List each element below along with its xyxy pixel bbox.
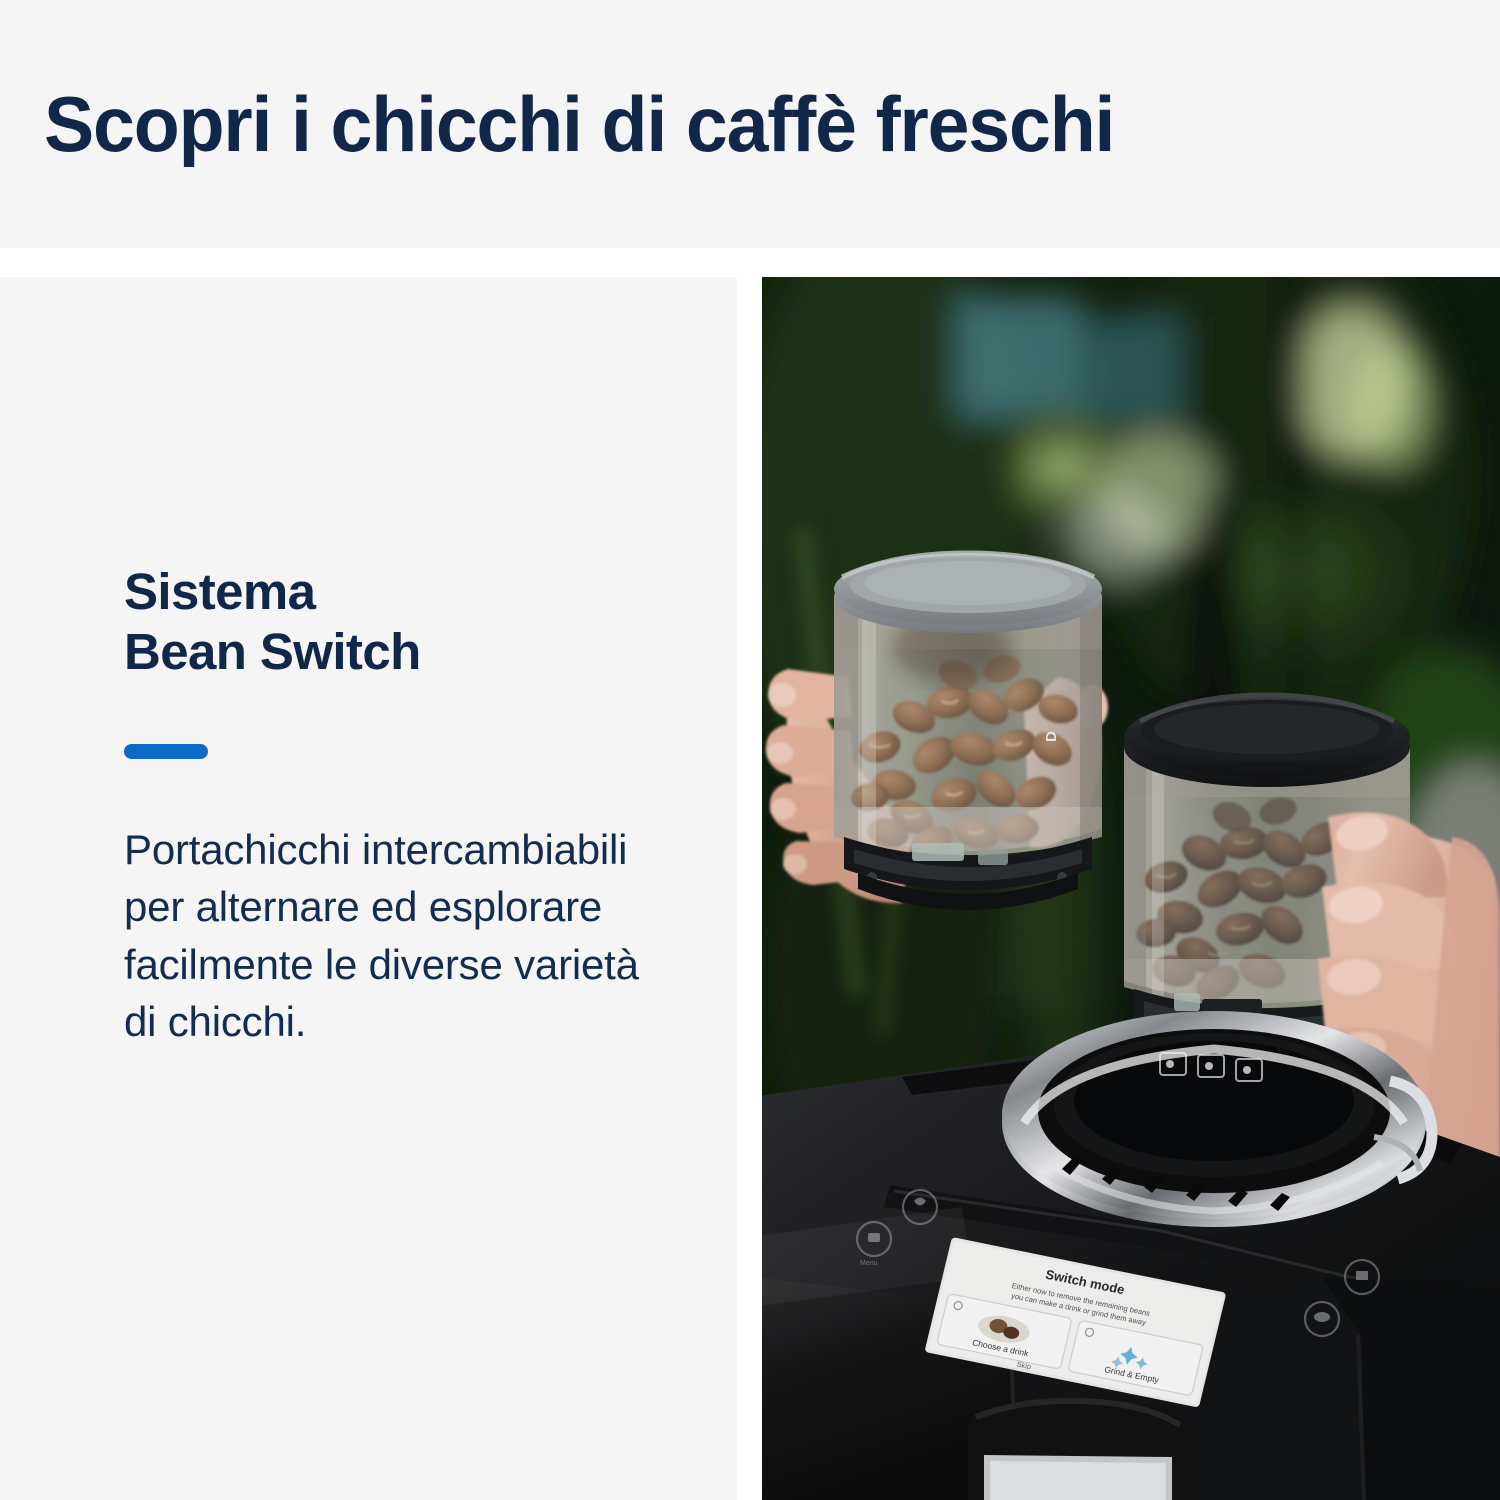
left-text-panel: Sistema Bean Switch Portachicchi interca… [0, 277, 737, 1500]
feature-heading-line-2: Bean Switch [124, 622, 664, 682]
product-photo-illustration: D [762, 277, 1500, 1500]
panel-content: Sistema Bean Switch Portachicchi interca… [124, 562, 664, 1050]
feature-heading: Sistema Bean Switch [124, 562, 664, 682]
accent-divider [124, 744, 208, 759]
feature-heading-line-1: Sistema [124, 562, 664, 622]
page-title: Scopri i chicchi di caffè freschi [44, 85, 1114, 163]
header-band: Scopri i chicchi di caffè freschi [0, 0, 1500, 248]
feature-description: Portachicchi intercambiabili per alterna… [124, 821, 664, 1049]
promo-page: Scopri i chicchi di caffè freschi Sistem… [0, 0, 1500, 1500]
product-photo: D [762, 277, 1500, 1500]
